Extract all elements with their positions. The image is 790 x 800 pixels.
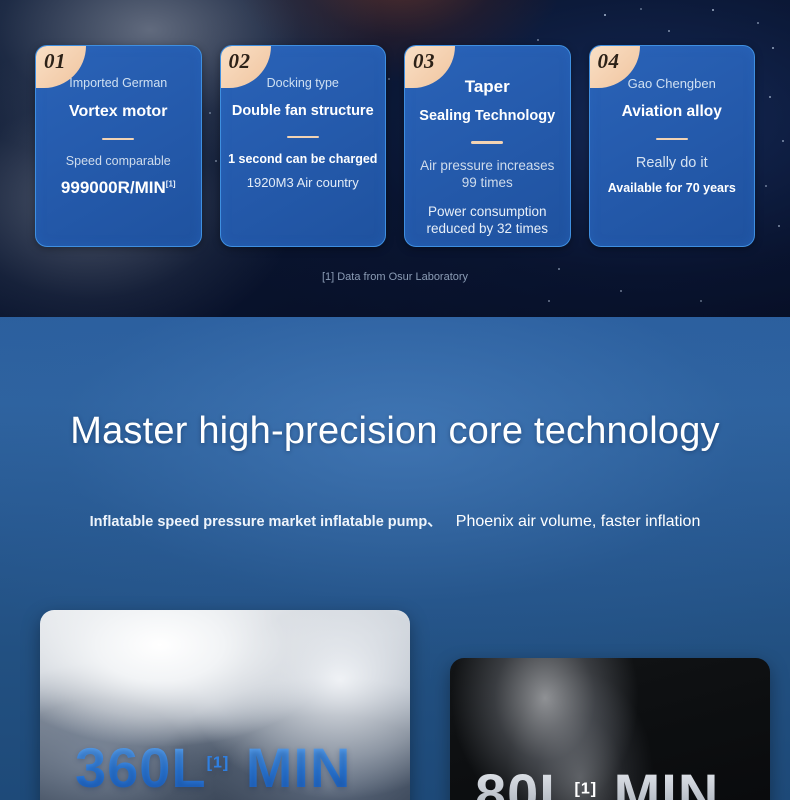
top-feature-section: 01 Imported German Vortex motor Speed co… (0, 0, 790, 317)
section-headline: Master high-precision core technology (0, 410, 790, 453)
card-value-03: Power consumption reduced by 32 times (405, 204, 570, 238)
airflow-superscript-left: [1] (207, 754, 230, 771)
airflow-value-right: 80L[1] MIN (475, 766, 719, 800)
airflow-superscript-right: [1] (575, 780, 598, 797)
card-number-03: 03 (413, 49, 435, 74)
card-value-02: 1920M3 Air country (221, 175, 386, 191)
card-divider-02 (287, 136, 319, 139)
card-number-04: 04 (598, 49, 620, 74)
card-divider-01 (102, 138, 134, 141)
card-number-02: 02 (229, 49, 251, 74)
feature-card-01[interactable]: 01 Imported German Vortex motor Speed co… (35, 45, 202, 247)
card-title-04: Aviation alloy (590, 102, 755, 121)
card-value-04: Available for 70 years (590, 181, 755, 197)
card-value-superscript-01: [1] (166, 179, 176, 188)
card-value-01: 999000R/MIN[1] (36, 177, 201, 198)
card-number-01: 01 (44, 49, 66, 74)
card-divider-03 (471, 141, 503, 144)
card-value-label-04: Really do it (590, 154, 755, 172)
airflow-card-left[interactable]: 360L[1] MIN (40, 610, 410, 800)
airflow-value-left: 360L[1] MIN (75, 740, 351, 796)
feature-card-02[interactable]: 02 Docking type Double fan structure 1 s… (220, 45, 387, 247)
subtitle-part-1: Inflatable speed pressure market inflata… (90, 510, 442, 531)
section-subtitle: Inflatable speed pressure market inflata… (0, 510, 790, 531)
card-value-label-03: Air pressure increases 99 times (405, 158, 570, 192)
card-value-label-01: Speed comparable (36, 154, 201, 170)
feature-card-04[interactable]: 04 Gao Chengben Aviation alloy Really do… (589, 45, 756, 247)
airflow-card-right[interactable]: 80L[1] MIN (450, 658, 770, 800)
feature-cards-row: 01 Imported German Vortex motor Speed co… (0, 45, 790, 252)
data-source-footnote: [1] Data from Osur Laboratory (0, 271, 790, 283)
card-value-label-02: 1 second can be charged (221, 152, 386, 168)
core-technology-section: Master high-precision core technology In… (0, 317, 790, 800)
card-title-02: Double fan structure (221, 102, 386, 120)
feature-card-03[interactable]: 03 Taper Sealing Technology Air pressure… (404, 45, 571, 247)
card-title-01: Vortex motor (36, 102, 201, 122)
subtitle-part-2: Phoenix air volume, faster inflation (456, 513, 701, 531)
card-divider-04 (656, 138, 688, 141)
card-title-03: Sealing Technology (405, 107, 570, 125)
